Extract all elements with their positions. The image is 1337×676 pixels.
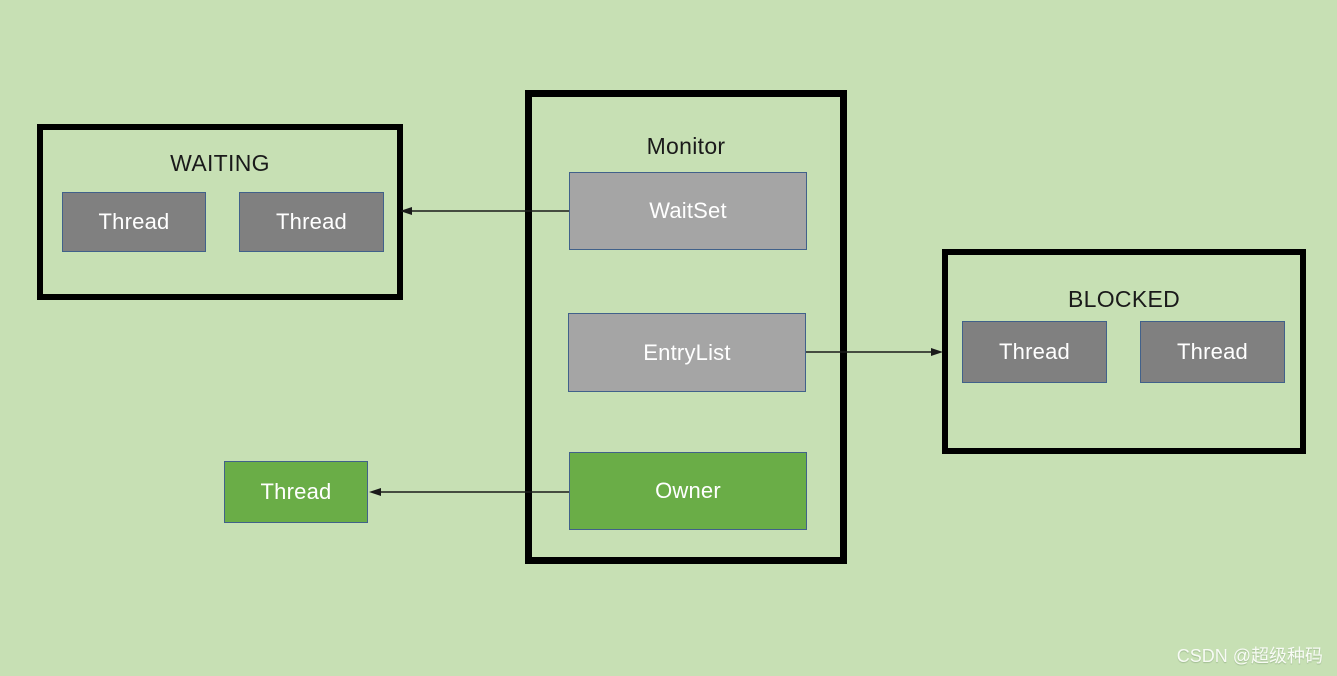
monitor-entrylist-label: EntryList <box>643 340 730 366</box>
owner-thread[interactable]: Thread <box>224 461 368 523</box>
diagram-canvas: WAITING Thread Thread Monitor WaitSet En… <box>0 0 1337 676</box>
monitor-entrylist[interactable]: EntryList <box>568 313 806 392</box>
blocked-thread-1-label: Thread <box>999 339 1070 365</box>
monitor-waitset-label: WaitSet <box>649 198 727 224</box>
waiting-thread-2-label: Thread <box>276 209 347 235</box>
monitor-waitset[interactable]: WaitSet <box>569 172 807 250</box>
waiting-thread-2[interactable]: Thread <box>239 192 384 252</box>
waiting-thread-1[interactable]: Thread <box>62 192 206 252</box>
csdn-watermark: CSDN @超级种码 <box>1177 642 1323 668</box>
monitor-owner[interactable]: Owner <box>569 452 807 530</box>
monitor-owner-label: Owner <box>655 478 721 504</box>
group-blocked-title: BLOCKED <box>948 286 1300 313</box>
waiting-thread-1-label: Thread <box>99 209 170 235</box>
blocked-thread-1[interactable]: Thread <box>962 321 1107 383</box>
group-waiting-title: WAITING <box>43 150 397 177</box>
group-monitor-title: Monitor <box>532 133 840 160</box>
blocked-thread-2-label: Thread <box>1177 339 1248 365</box>
owner-thread-label: Thread <box>261 479 332 505</box>
blocked-thread-2[interactable]: Thread <box>1140 321 1285 383</box>
